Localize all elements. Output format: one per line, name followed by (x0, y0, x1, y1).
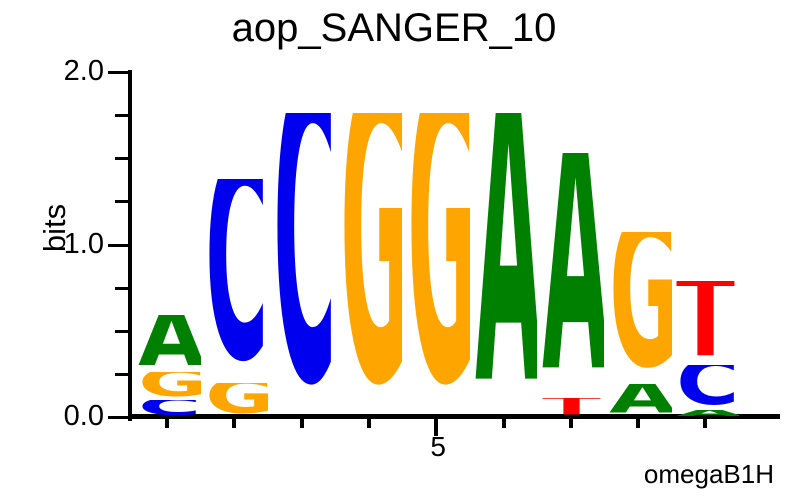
logo-letter-c: C (268, 113, 335, 417)
logo-letter-c: C (672, 365, 739, 410)
logo-column: G (335, 113, 402, 417)
logo-column: AGC (134, 315, 201, 417)
fineprint-label: omegaB1H (644, 460, 774, 488)
logo-glyph: A (475, 113, 533, 417)
logo-glyph: A (609, 384, 667, 417)
logo-stacks: AGCCGCGGAATGATCA (0, 0, 788, 496)
logo-letter-g: G (134, 372, 201, 400)
sequence-logo-figure: aop_SANGER_10 bits 0.01.02.0 5 AGCCGCGGA… (0, 0, 788, 496)
logo-letter-c: C (134, 400, 201, 417)
logo-letter-g: G (403, 113, 470, 417)
logo-column: AT (537, 153, 604, 417)
logo-column: G (403, 113, 470, 417)
logo-glyph: A (677, 410, 735, 417)
logo-letter-a: A (672, 410, 739, 417)
logo-glyph: C (205, 179, 263, 383)
logo-glyph: T (677, 281, 735, 366)
logo-glyph: T (542, 398, 600, 417)
logo-letter-a: A (605, 384, 672, 417)
logo-glyph: G (407, 113, 465, 417)
logo-column: TCA (672, 281, 739, 417)
logo-letter-t: T (672, 281, 739, 366)
logo-glyph: C (677, 365, 735, 410)
logo-glyph: C (138, 400, 196, 417)
logo-column: A (470, 113, 537, 417)
logo-letter-a: A (134, 315, 201, 372)
logo-letter-g: G (201, 383, 268, 418)
logo-letter-g: G (335, 113, 402, 417)
logo-letter-a: A (470, 113, 537, 417)
logo-glyph: A (138, 315, 196, 372)
logo-letter-a: A (537, 153, 604, 398)
logo-glyph: G (138, 372, 196, 400)
logo-letter-t: T (537, 398, 604, 417)
logo-glyph: A (542, 153, 600, 398)
logo-letter-c: C (201, 179, 268, 383)
logo-column: GA (605, 232, 672, 417)
logo-column: C (268, 113, 335, 417)
logo-glyph: G (609, 232, 667, 384)
logo-glyph: G (205, 383, 263, 418)
logo-glyph: G (340, 113, 398, 417)
logo-column: CG (201, 179, 268, 417)
logo-glyph: C (273, 113, 331, 417)
logo-letter-g: G (605, 232, 672, 384)
